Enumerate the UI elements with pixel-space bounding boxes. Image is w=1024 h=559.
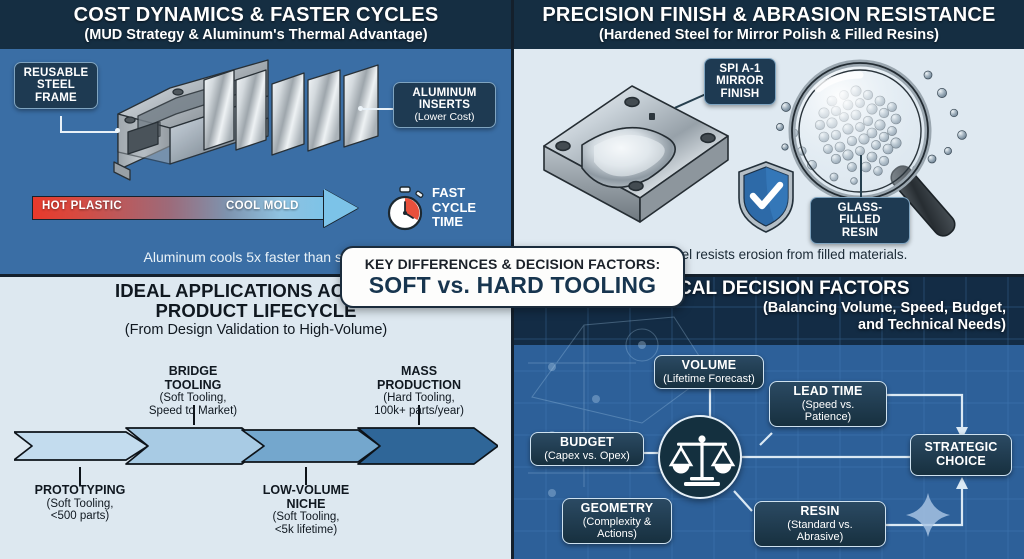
leader-dot-aluminum-inserts [358, 106, 363, 111]
balance-scale-icon [660, 417, 744, 501]
node-budget[interactable]: BUDGET (Capex vs. Opex) [530, 432, 644, 466]
node-geometry[interactable]: GEOMETRY (Complexity & Actions) [562, 498, 672, 544]
label-line-3: FINISH [713, 88, 767, 100]
panel-header-cost-dynamics: COST DYNAMICS & FASTER CYCLES (MUD Strat… [0, 0, 512, 49]
stage-detail-line-1: (Soft Tooling, [14, 498, 146, 511]
leader-line-aluminum-inserts [363, 108, 395, 110]
panel-title: PRECISION FINISH & ABRASION RESISTANCE [520, 5, 1018, 26]
sparkle-icon [906, 493, 950, 537]
stopwatch-icon [383, 186, 427, 232]
label-line-1: SPI A-1 [713, 63, 767, 75]
fct-line-2: CYCLE [432, 201, 492, 216]
stage-name-line-1: BRIDGE [129, 365, 257, 379]
stage-detail-line-2: <5k lifetime) [243, 524, 369, 537]
label-line-3: FRAME [23, 92, 89, 104]
label-line-1: ALUMINUM [402, 87, 487, 99]
outcome-line-2: CHOICE [919, 455, 1003, 469]
node-subtitle: (Speed vs. Patience) [778, 399, 878, 423]
panel-precision-finish: PRECISION FINISH & ABRASION RESISTANCE (… [514, 0, 1024, 275]
label-line-2: RESIN [819, 227, 901, 239]
stage-name-line-1: MASS [356, 365, 482, 379]
panel-title: COST DYNAMICS & FASTER CYCLES [6, 5, 506, 26]
leader-line-steel-frame-vertical [60, 116, 62, 132]
stage-detail-line-1: (Soft Tooling, [129, 392, 257, 405]
label-line-3: (Lower Cost) [402, 112, 487, 123]
fct-line-1: FAST [432, 186, 492, 201]
leader-line-glass-filled-resin [860, 155, 862, 197]
panel-header-precision-finish: PRECISION FINISH & ABRASION RESISTANCE (… [514, 0, 1024, 49]
label-spi-a1-mirror-finish: SPI A-1 MIRROR FINISH [704, 58, 776, 105]
timeline-label-prototyping: PROTOTYPING (Soft Tooling, <500 parts) [14, 484, 146, 523]
thermal-arrowhead-icon [324, 189, 358, 227]
hot-plastic-label: HOT PLASTIC [42, 200, 122, 212]
label-reusable-steel-frame: REUSABLE STEEL FRAME [14, 62, 98, 109]
timeline-label-low-volume-niche: LOW-VOLUME NICHE (Soft Tooling, <5k life… [243, 484, 369, 537]
balance-scale-hub [658, 415, 742, 499]
outcome-line-1: STRATEGIC [919, 441, 1003, 455]
timeline-label-bridge-tooling: BRIDGE TOOLING (Soft Tooling, Speed to M… [129, 365, 257, 418]
node-subtitle: (Lifetime Forecast) [663, 373, 755, 385]
label-line-2: STEEL [23, 79, 89, 91]
callout-line-2: SOFT vs. HARD TOOLING [369, 273, 656, 297]
label-aluminum-inserts: ALUMINUM INSERTS (Lower Cost) [393, 82, 496, 128]
node-title: VOLUME [663, 359, 755, 373]
stage-name-line-1: LOW-VOLUME [243, 484, 369, 498]
thermal-gradient-arrow: HOT PLASTIC COOL MOLD [32, 196, 362, 220]
node-resin[interactable]: RESIN (Standard vs. Abrasive) [754, 501, 886, 547]
cool-mold-label: COOL MOLD [226, 200, 299, 212]
panel-subtitle: (Hardened Steel for Mirror Polish & Fill… [520, 27, 1018, 43]
stage-detail-line-1: (Soft Tooling, [243, 511, 369, 524]
label-line-1: REUSABLE [23, 67, 89, 79]
node-title: GEOMETRY [571, 502, 663, 516]
panel-critical-decision-factors: CRITICAL DECISION FACTORS (Balancing Vol… [514, 277, 1024, 559]
node-subtitle: (Standard vs. Abrasive) [763, 519, 877, 543]
label-line-2: MIRROR [713, 75, 767, 87]
fct-line-3: TIME [432, 215, 492, 230]
panel-cost-dynamics: COST DYNAMICS & FASTER CYCLES (MUD Strat… [0, 0, 512, 275]
node-subtitle-line-2: Actions) [571, 528, 663, 540]
node-strategic-choice[interactable]: STRATEGIC CHOICE [910, 434, 1012, 476]
exploded-mold-illustration [108, 52, 408, 187]
node-subtitle-line-1: (Complexity & [571, 516, 663, 528]
stage-detail-line-2: Speed to Market) [129, 405, 257, 418]
label-line-2: INSERTS [402, 99, 487, 111]
node-title: LEAD TIME [778, 385, 878, 399]
stage-name-line-2: PRODUCTION [356, 379, 482, 393]
leader-line-steel-frame-horizontal [60, 131, 118, 133]
stage-detail-line-2: 100k+ parts/year) [356, 405, 482, 418]
stage-detail-line-1: (Hard Tooling, [356, 392, 482, 405]
node-subtitle: (Capex vs. Opex) [539, 450, 635, 462]
center-callout-key-differences: KEY DIFFERENCES & DECISION FACTORS: SOFT… [340, 246, 685, 308]
stage-name-line-2: NICHE [243, 498, 369, 512]
stage-name-line-2: TOOLING [129, 379, 257, 393]
callout-line-1: KEY DIFFERENCES & DECISION FACTORS: [365, 256, 660, 272]
node-title: BUDGET [539, 436, 635, 450]
panel-subtitle: (MUD Strategy & Aluminum's Thermal Advan… [6, 27, 506, 43]
node-volume[interactable]: VOLUME (Lifetime Forecast) [654, 355, 764, 389]
node-title: RESIN [763, 505, 877, 519]
label-line-1: GLASS-FILLED [819, 202, 901, 227]
leader-dot-steel-frame [115, 128, 120, 133]
timeline-label-mass-production: MASS PRODUCTION (Hard Tooling, 100k+ par… [356, 365, 482, 418]
panel-ideal-applications: IDEAL APPLICATIONS ACROSS PRODUCT LIFECY… [0, 277, 512, 559]
fast-cycle-time-label: FAST CYCLE TIME [432, 186, 492, 230]
lifecycle-timeline-chart [14, 424, 498, 468]
infographic-canvas: COST DYNAMICS & FASTER CYCLES (MUD Strat… [0, 0, 1024, 559]
stage-name: PROTOTYPING [14, 484, 146, 498]
node-lead-time[interactable]: LEAD TIME (Speed vs. Patience) [769, 381, 887, 427]
label-glass-filled-resin: GLASS-FILLED RESIN [810, 197, 910, 244]
panel-subtitle: (From Design Validation to High-Volume) [8, 322, 504, 338]
stage-detail-line-2: <500 parts) [14, 510, 146, 523]
